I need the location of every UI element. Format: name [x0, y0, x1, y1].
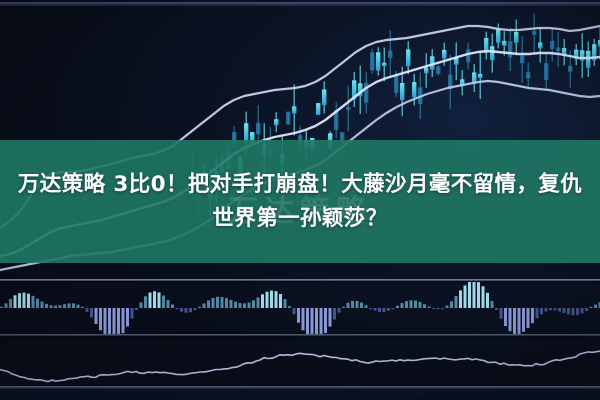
oscillator-line	[0, 351, 600, 382]
histogram-svg	[0, 282, 600, 334]
oscillator-panel	[0, 338, 600, 388]
panel-divider-mid	[0, 334, 600, 336]
histogram-panel	[0, 282, 600, 334]
headline-text: 万达策略 3比0！把对手打崩盘！大藤沙月毫不留情，复仇世界第一孙颖莎？	[17, 168, 583, 236]
thumbnail-image: 万达策略 万达策略 3比0！把对手打崩盘！大藤沙月毫不留情，复仇世界第一孙颖莎？	[0, 0, 600, 400]
oscillator-svg	[0, 338, 600, 388]
histogram-series	[0, 282, 600, 334]
panel-divider-top	[0, 279, 600, 281]
headline-banner: 万达策略 万达策略 3比0！把对手打崩盘！大藤沙月毫不留情，复仇世界第一孙颖莎？	[0, 140, 600, 263]
bottom-tail-area	[0, 389, 600, 400]
